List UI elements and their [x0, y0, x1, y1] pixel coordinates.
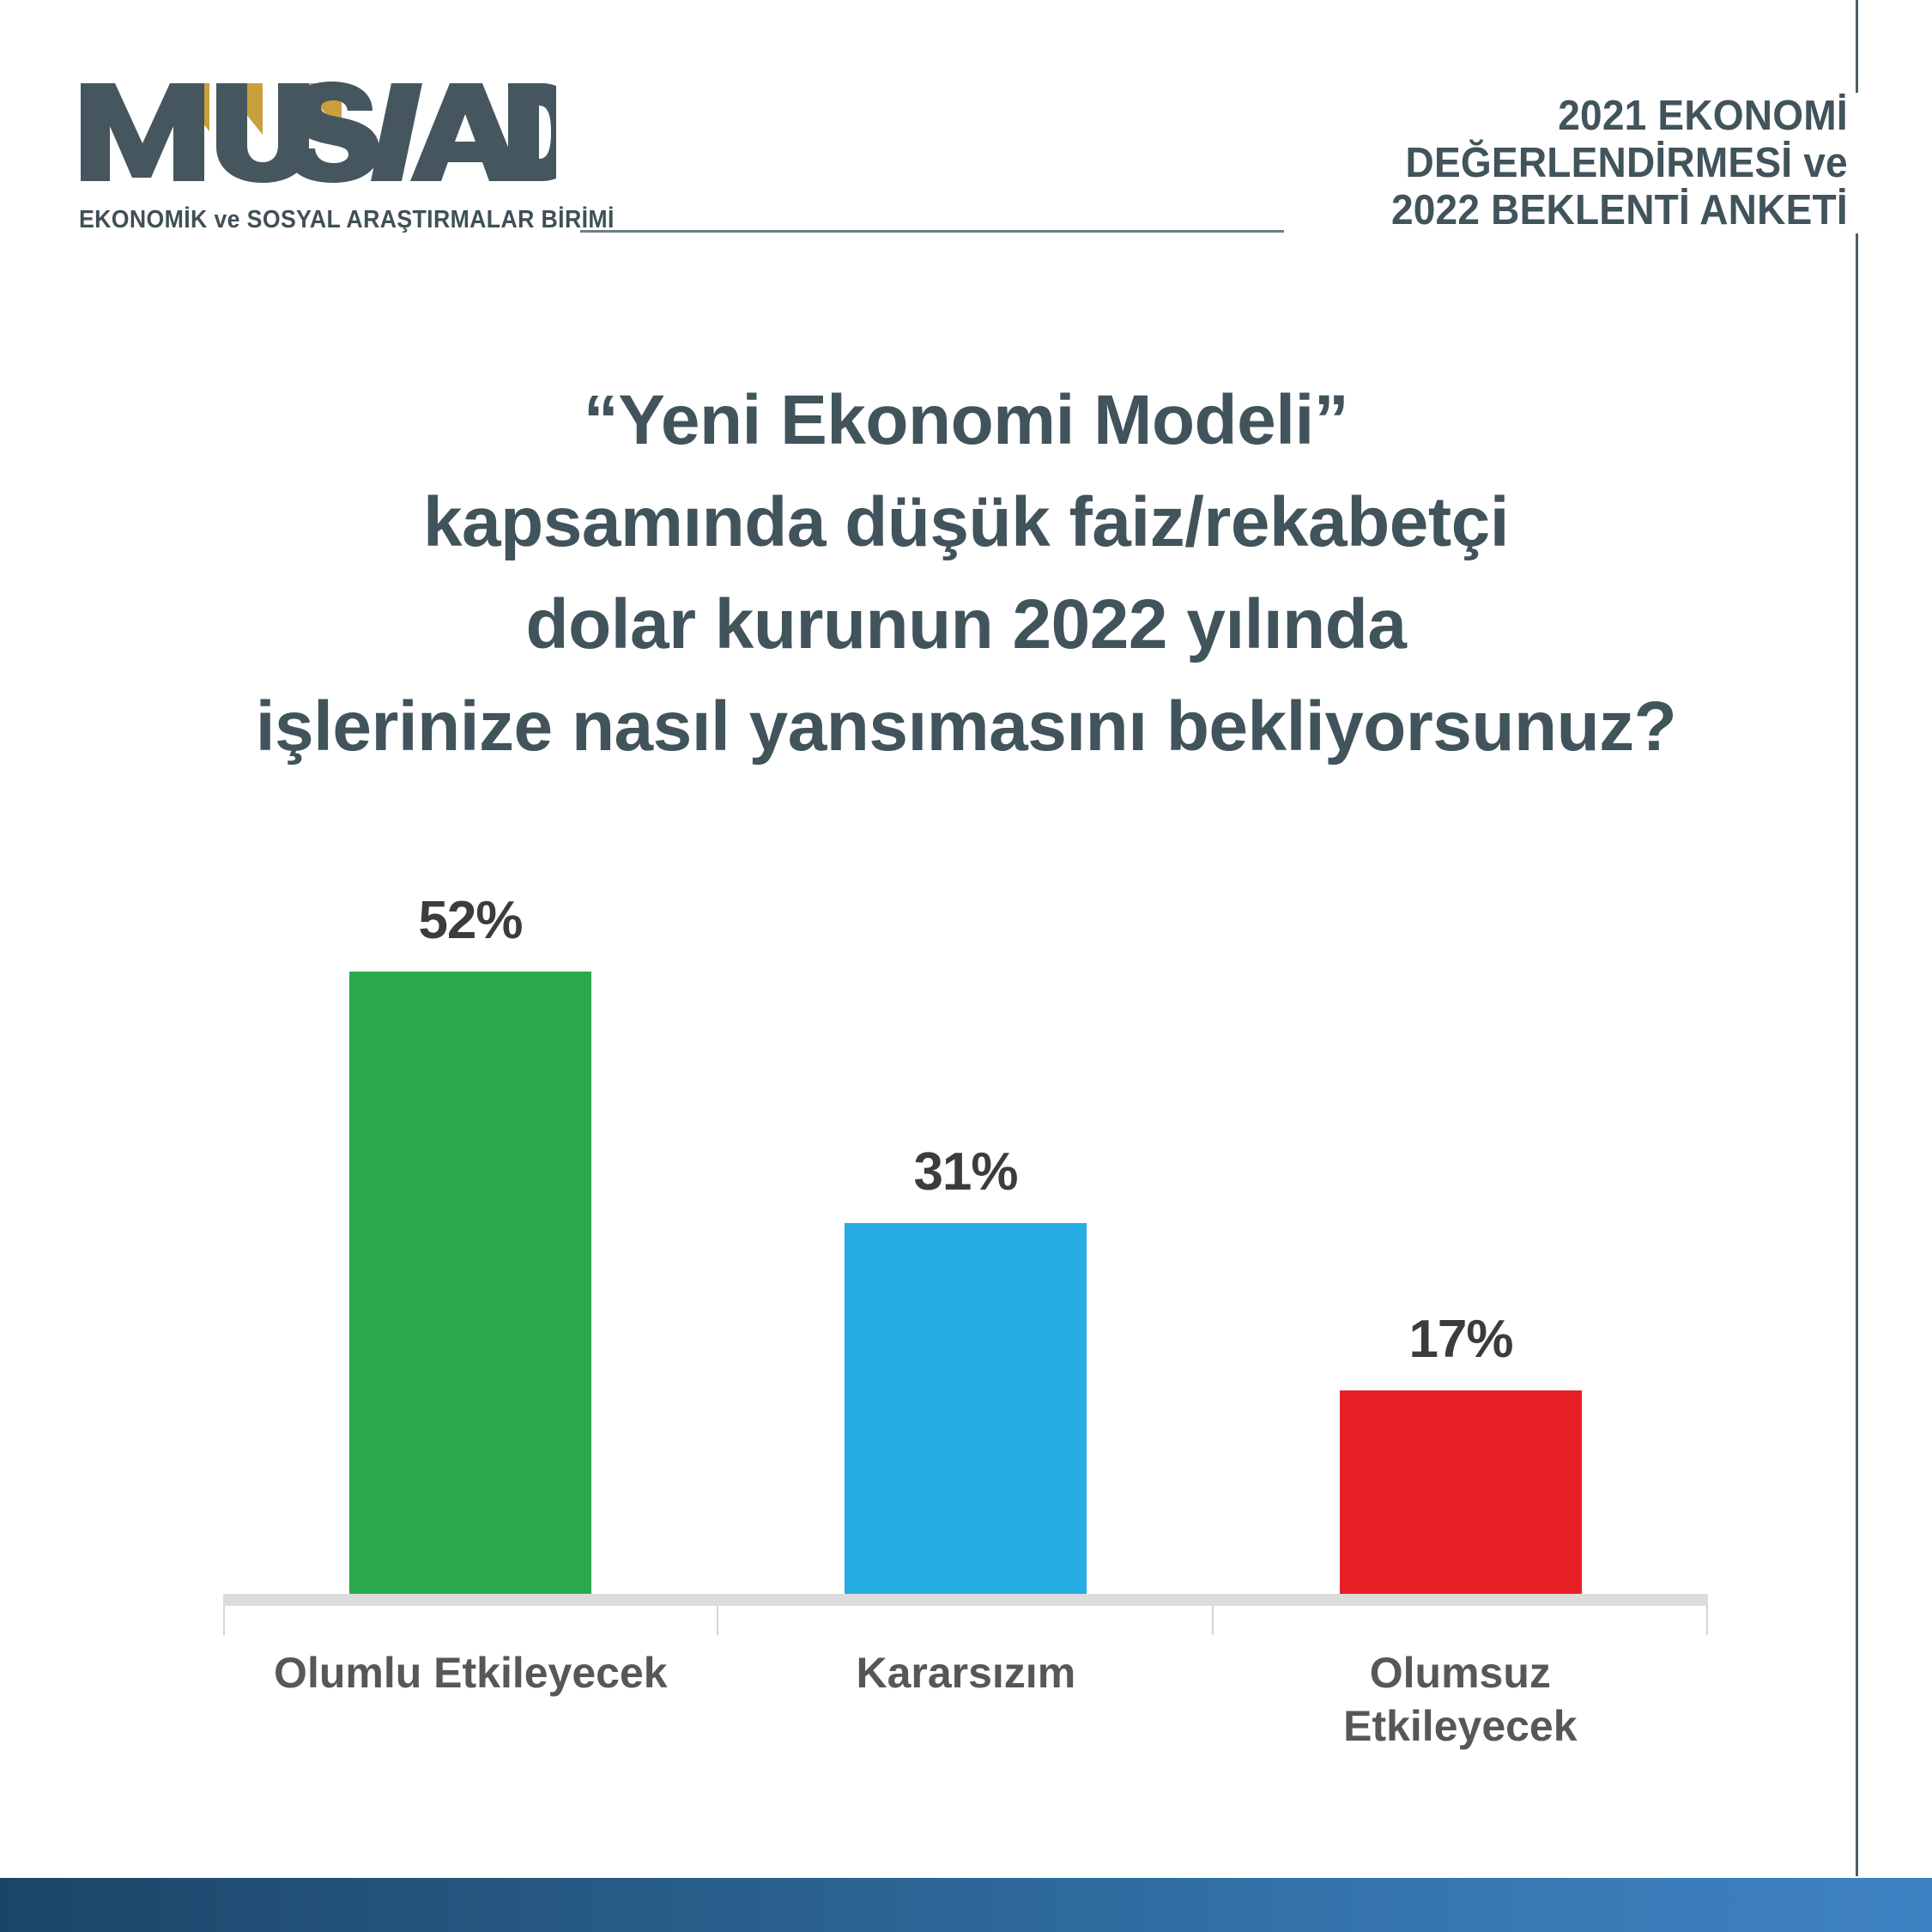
- question-line-4: işlerinize nasıl yansımasını bekliyorsun…: [0, 675, 1932, 778]
- header-title-line-3: 2022 BEKLENTİ ANKETİ: [1391, 187, 1848, 234]
- bar-group: 52%: [349, 875, 591, 1594]
- infographic-page: EKONOMİK ve SOSYAL ARAŞTIRMALAR BİRİMİ 2…: [0, 0, 1932, 1932]
- category-label-1: Olumlu Etkileyecek: [223, 1646, 718, 1699]
- axis-tick-2: [1212, 1606, 1214, 1635]
- bar-chart: 52%31%17%: [223, 875, 1708, 1614]
- axis-tick-1: [717, 1606, 718, 1635]
- question-line-3: dolar kurunun 2022 yılında: [0, 573, 1932, 675]
- category-label-2: Kararsızım: [718, 1646, 1214, 1699]
- bar-group: 17%: [1340, 875, 1582, 1594]
- right-vertical-rule-top: [1856, 0, 1858, 93]
- header-title-line-2: DEĞERLENDİRMESİ ve: [1391, 140, 1848, 187]
- bar-3: [1340, 1390, 1582, 1594]
- tagline-divider: [580, 230, 1284, 233]
- chart-plot-area: 52%31%17%: [223, 875, 1708, 1594]
- header-title: 2021 EKONOMİ DEĞERLENDİRMESİ ve 2022 BEK…: [1391, 93, 1848, 234]
- axis-tick-3: [1706, 1606, 1708, 1635]
- category-label-3: OlumsuzEtkileyecek: [1213, 1646, 1708, 1753]
- bar-group: 31%: [845, 875, 1087, 1594]
- chart-category-labels: Olumlu EtkileyecekKararsızımOlumsuzEtkil…: [223, 1646, 1708, 1801]
- bar-value-label-1: 52%: [349, 890, 591, 951]
- bar-2: [845, 1223, 1087, 1594]
- bar-1: [349, 972, 591, 1594]
- question-line-2: kapsamında düşük faiz/rekabetçi: [0, 471, 1932, 573]
- category-label-line: Etkileyecek: [1213, 1699, 1708, 1753]
- bar-value-label-2: 31%: [845, 1142, 1087, 1202]
- logo-tagline: EKONOMİK ve SOSYAL ARAŞTIRMALAR BİRİMİ: [79, 206, 615, 234]
- axis-tick-0: [223, 1606, 225, 1635]
- chart-baseline-axis: [223, 1594, 1708, 1606]
- musiad-logo-icon: [79, 82, 556, 183]
- category-label-line: Olumsuz: [1213, 1646, 1708, 1699]
- question-title: “Yeni Ekonomi Modeli” kapsamında düşük f…: [0, 369, 1932, 778]
- category-label-line: Olumlu Etkileyecek: [223, 1646, 718, 1699]
- musiad-logo: [79, 82, 556, 183]
- bar-value-label-3: 17%: [1340, 1309, 1582, 1370]
- header-title-line-1: 2021 EKONOMİ: [1391, 93, 1848, 140]
- question-line-1: “Yeni Ekonomi Modeli”: [0, 369, 1932, 471]
- footer-gradient-bar: [0, 1878, 1932, 1932]
- category-label-line: Kararsızım: [718, 1646, 1214, 1699]
